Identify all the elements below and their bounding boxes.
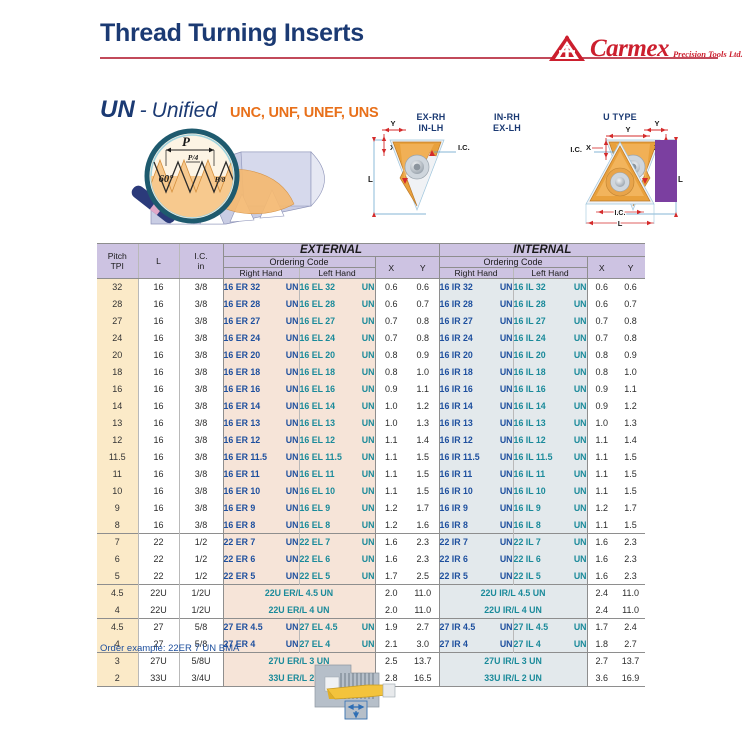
svg-text:Y: Y — [390, 119, 395, 128]
cell-internal-code: 27U IR/L 3 UN — [439, 653, 587, 670]
cell-internal-x: 1.1 — [587, 517, 616, 534]
header-internal-right-hand: Right Hand — [439, 268, 513, 279]
cell-external-x: 0.7 — [375, 330, 407, 347]
header-external-left-hand: Left Hand — [299, 268, 375, 279]
cell-external-y: 2.3 — [407, 534, 439, 551]
svg-text:P/4: P/4 — [188, 153, 199, 162]
table-row: 4.5275/827 ER 4.5UN27 EL 4.5UN1.92.727 I… — [97, 619, 645, 636]
cell-external-right-hand: 16 ER 24UN — [223, 330, 299, 347]
brand-name: Carmex — [590, 36, 669, 62]
cell-external-y: 1.0 — [407, 364, 439, 381]
cell-internal-y: 0.6 — [616, 279, 645, 296]
cell-length: 16 — [138, 279, 179, 296]
cell-internal-x: 1.0 — [587, 415, 616, 432]
cell-external-right-hand: 22 ER 5UN — [223, 568, 299, 585]
cell-external-x: 0.7 — [375, 313, 407, 330]
cell-ic: 3/8 — [179, 432, 223, 449]
table-row: 10163/816 ER 10UN16 EL 10UN1.11.516 IR 1… — [97, 483, 645, 500]
cell-length: 16 — [138, 296, 179, 313]
cell-external-y: 1.5 — [407, 449, 439, 466]
cell-external-right-hand: 16 ER 14UN — [223, 398, 299, 415]
cell-internal-right-hand: 27 IR 4.5UN — [439, 619, 513, 636]
cell-internal-x: 0.6 — [587, 279, 616, 296]
table-row: 20163/816 ER 20UN16 EL 20UN0.80.916 IR 2… — [97, 347, 645, 364]
cell-internal-x: 3.6 — [587, 670, 616, 687]
cell-external-code: 22U ER/L 4.5 UN — [223, 585, 375, 602]
cell-length: 16 — [138, 398, 179, 415]
cell-external-right-hand: 16 ER 28UN — [223, 296, 299, 313]
header-pitch: Pitch TPI — [97, 244, 138, 279]
cell-internal-x: 1.7 — [587, 619, 616, 636]
cell-external-left-hand: 27 EL 4UN — [299, 636, 375, 653]
order-example-note: Order example: 22ER 7 UN BMA — [100, 643, 239, 654]
cell-external-x: 1.7 — [375, 568, 407, 585]
svg-text:L: L — [678, 175, 683, 184]
thread-standard-code: UN — [100, 96, 135, 124]
cell-internal-right-hand: 16 IR 27UN — [439, 313, 513, 330]
cell-length: 22 — [138, 534, 179, 551]
header-internal-y: Y — [616, 257, 645, 279]
cell-external-y: 1.1 — [407, 381, 439, 398]
cell-ic: 3/8 — [179, 364, 223, 381]
cell-ic: 3/8 — [179, 398, 223, 415]
cell-pitch: 2 — [97, 670, 138, 687]
cell-internal-left-hand: 16 IL 27UN — [513, 313, 587, 330]
cell-external-left-hand: 16 EL 28UN — [299, 296, 375, 313]
cell-external-x: 1.6 — [375, 551, 407, 568]
cell-external-left-hand: 27 EL 4.5UN — [299, 619, 375, 636]
cell-length: 16 — [138, 330, 179, 347]
table-row: 12163/816 ER 12UN16 EL 12UN1.11.416 IR 1… — [97, 432, 645, 449]
cell-internal-left-hand: 16 IL 11UN — [513, 466, 587, 483]
cell-external-x: 1.1 — [375, 466, 407, 483]
cell-internal-y: 1.2 — [616, 398, 645, 415]
cell-length: 16 — [138, 483, 179, 500]
specification-table: Pitch TPI L I.C. in EXTERNAL INTERNAL Or… — [97, 243, 645, 687]
cell-internal-x: 1.6 — [587, 568, 616, 585]
cell-ic: 1/2U — [179, 585, 223, 602]
cell-internal-left-hand: 16 IL 11.5UN — [513, 449, 587, 466]
cell-internal-left-hand: 27 IL 4.5UN — [513, 619, 587, 636]
cell-internal-x: 2.4 — [587, 585, 616, 602]
cell-internal-left-hand: 16 IL 32UN — [513, 279, 587, 296]
cell-internal-right-hand: 16 IR 16UN — [439, 381, 513, 398]
cell-internal-y: 1.3 — [616, 415, 645, 432]
specification-table-container: Pitch TPI L I.C. in EXTERNAL INTERNAL Or… — [97, 243, 644, 687]
cell-internal-left-hand: 22 IL 5UN — [513, 568, 587, 585]
cell-internal-y: 1.7 — [616, 500, 645, 517]
cell-ic: 1/2 — [179, 551, 223, 568]
cell-external-x: 2.0 — [375, 602, 407, 619]
cell-external-code: 22U ER/L 4 UN — [223, 602, 375, 619]
cell-external-right-hand: 16 ER 20UN — [223, 347, 299, 364]
cell-internal-right-hand: 16 IR 12UN — [439, 432, 513, 449]
cell-external-right-hand: 22 ER 6UN — [223, 551, 299, 568]
cell-pitch: 20 — [97, 347, 138, 364]
cell-external-x: 1.1 — [375, 432, 407, 449]
label-line-1: IN-RH — [494, 112, 520, 122]
header-internal-x: X — [587, 257, 616, 279]
cell-ic: 1/2 — [179, 534, 223, 551]
cell-external-left-hand: 16 EL 10UN — [299, 483, 375, 500]
cell-external-left-hand: 16 EL 16UN — [299, 381, 375, 398]
cell-length: 22 — [138, 568, 179, 585]
label-line-1: EX-RH — [416, 112, 445, 122]
cell-external-left-hand: 22 EL 7UN — [299, 534, 375, 551]
cell-external-x: 0.6 — [375, 296, 407, 313]
cell-pitch: 12 — [97, 432, 138, 449]
cell-length: 16 — [138, 313, 179, 330]
table-row: 4.522U1/2U22U ER/L 4.5 UN2.011.022U IR/L… — [97, 585, 645, 602]
thread-types-list: UNC, UNF, UNEF, UNS — [230, 105, 378, 121]
label-line-1: U TYPE — [603, 112, 637, 122]
cell-external-left-hand: 22 EL 6UN — [299, 551, 375, 568]
cell-external-left-hand: 16 EL 18UN — [299, 364, 375, 381]
cell-external-x: 1.2 — [375, 500, 407, 517]
cell-internal-right-hand: 16 IR 18UN — [439, 364, 513, 381]
cell-external-y: 1.3 — [407, 415, 439, 432]
cell-internal-y: 1.1 — [616, 381, 645, 398]
cell-ic: 3/8 — [179, 500, 223, 517]
cell-ic: 3/8 — [179, 279, 223, 296]
cell-ic: 3/8 — [179, 296, 223, 313]
cell-internal-left-hand: 16 IL 18UN — [513, 364, 587, 381]
cell-pitch: 24 — [97, 330, 138, 347]
cell-internal-y: 0.9 — [616, 347, 645, 364]
cell-external-right-hand: 27 ER 4.5UN — [223, 619, 299, 636]
cell-internal-left-hand: 22 IL 7UN — [513, 534, 587, 551]
cell-ic: 3/4U — [179, 670, 223, 687]
cell-external-right-hand: 16 ER 9UN — [223, 500, 299, 517]
diagram-label-in-rh: IN-RH EX-LH — [478, 112, 536, 134]
cell-external-y: 11.0 — [407, 602, 439, 619]
cell-external-right-hand: 22 ER 7UN — [223, 534, 299, 551]
cell-length: 22U — [138, 602, 179, 619]
cell-internal-right-hand: 16 IR 11.5UN — [439, 449, 513, 466]
cell-pitch: 8 — [97, 517, 138, 534]
cell-external-x: 1.0 — [375, 415, 407, 432]
cell-internal-y: 1.5 — [616, 466, 645, 483]
cell-external-right-hand: 16 ER 18UN — [223, 364, 299, 381]
cell-external-x: 1.1 — [375, 449, 407, 466]
cell-internal-x: 0.9 — [587, 398, 616, 415]
cell-internal-x: 0.9 — [587, 381, 616, 398]
cell-ic: 3/8 — [179, 483, 223, 500]
cell-internal-right-hand: 16 IR 9UN — [439, 500, 513, 517]
cell-pitch: 4.5 — [97, 619, 138, 636]
header-external-group: EXTERNAL — [223, 244, 439, 257]
cell-external-left-hand: 16 EL 14UN — [299, 398, 375, 415]
table-row: 16163/816 ER 16UN16 EL 16UN0.91.116 IR 1… — [97, 381, 645, 398]
cell-length: 16 — [138, 381, 179, 398]
table-body: 32163/816 ER 32UN16 EL 32UN0.60.616 IR 3… — [97, 279, 645, 687]
table-head: Pitch TPI L I.C. in EXTERNAL INTERNAL Or… — [97, 244, 645, 279]
cell-external-right-hand: 16 ER 11UN — [223, 466, 299, 483]
cell-external-x: 1.0 — [375, 398, 407, 415]
cell-external-x: 2.0 — [375, 585, 407, 602]
cell-length: 22U — [138, 585, 179, 602]
cell-internal-x: 0.6 — [587, 296, 616, 313]
cell-internal-right-hand: 27 IR 4UN — [439, 636, 513, 653]
cell-internal-right-hand: 16 IR 11UN — [439, 466, 513, 483]
header-length: L — [138, 244, 179, 279]
cell-internal-left-hand: 16 IL 9UN — [513, 500, 587, 517]
diagram-label-u-type: U TYPE — [570, 112, 670, 123]
cell-external-right-hand: 16 ER 12UN — [223, 432, 299, 449]
cell-pitch: 11 — [97, 466, 138, 483]
cell-external-left-hand: 16 EL 12UN — [299, 432, 375, 449]
table-row: 24163/816 ER 24UN16 EL 24UN0.70.816 IR 2… — [97, 330, 645, 347]
cell-ic: 1/2U — [179, 602, 223, 619]
cell-external-y: 1.5 — [407, 466, 439, 483]
cell-internal-x: 1.1 — [587, 466, 616, 483]
cell-pitch: 9 — [97, 500, 138, 517]
label-line-2: IN-LH — [419, 123, 444, 133]
cell-external-x: 1.1 — [375, 483, 407, 500]
page-header: Thread Turning Inserts Carmex Precision … — [100, 18, 718, 62]
cell-internal-x: 0.8 — [587, 347, 616, 364]
cell-external-y: 0.8 — [407, 313, 439, 330]
cell-internal-y: 0.8 — [616, 330, 645, 347]
table-row: 18163/816 ER 18UN16 EL 18UN0.81.016 IR 1… — [97, 364, 645, 381]
cell-ic: 3/8 — [179, 381, 223, 398]
cell-pitch: 16 — [97, 381, 138, 398]
cell-internal-y: 2.3 — [616, 534, 645, 551]
cell-external-left-hand: 22 EL 5UN — [299, 568, 375, 585]
cell-length: 33U — [138, 670, 179, 687]
cell-ic: 3/8 — [179, 347, 223, 364]
svg-text:60°: 60° — [159, 174, 175, 185]
cell-external-y: 1.6 — [407, 517, 439, 534]
cell-external-right-hand: 16 ER 13UN — [223, 415, 299, 432]
svg-text:I.C.: I.C. — [458, 143, 470, 152]
thread-profile-illustration: P P/4 P/8 60° — [96, 126, 346, 234]
cell-internal-code: 22U IR/L 4 UN — [439, 602, 587, 619]
cell-pitch: 4 — [97, 602, 138, 619]
cell-external-x: 0.9 — [375, 381, 407, 398]
cell-external-y: 0.9 — [407, 347, 439, 364]
cell-pitch: 18 — [97, 364, 138, 381]
cell-internal-y: 1.5 — [616, 517, 645, 534]
cell-internal-y: 1.5 — [616, 483, 645, 500]
cell-pitch: 11.5 — [97, 449, 138, 466]
cell-internal-y: 2.3 — [616, 551, 645, 568]
cell-external-x: 0.6 — [375, 279, 407, 296]
cell-internal-x: 1.8 — [587, 636, 616, 653]
cell-internal-right-hand: 16 IR 14UN — [439, 398, 513, 415]
header-external-x: X — [375, 257, 407, 279]
table-row: 9163/816 ER 9UN16 EL 9UN1.21.716 IR 9UN1… — [97, 500, 645, 517]
cell-external-right-hand: 16 ER 32UN — [223, 279, 299, 296]
cell-length: 16 — [138, 364, 179, 381]
cell-internal-left-hand: 22 IL 6UN — [513, 551, 587, 568]
cell-pitch: 32 — [97, 279, 138, 296]
cell-internal-left-hand: 16 IL 28UN — [513, 296, 587, 313]
svg-text:Y: Y — [625, 125, 630, 134]
cell-external-y: 1.7 — [407, 500, 439, 517]
cell-external-y: 3.0 — [407, 636, 439, 653]
cell-pitch: 4.5 — [97, 585, 138, 602]
header-external-ordering-code: Ordering Code — [223, 257, 375, 268]
cell-internal-x: 2.7 — [587, 653, 616, 670]
cell-internal-y: 11.0 — [616, 585, 645, 602]
cell-pitch: 3 — [97, 653, 138, 670]
table-row: 7221/222 ER 7UN22 EL 7UN1.62.322 IR 7UN2… — [97, 534, 645, 551]
cell-internal-x: 1.6 — [587, 551, 616, 568]
cell-internal-right-hand: 16 IR 32UN — [439, 279, 513, 296]
cell-external-y: 0.8 — [407, 330, 439, 347]
cell-external-x: 1.2 — [375, 517, 407, 534]
cell-length: 16 — [138, 432, 179, 449]
cell-external-y: 2.3 — [407, 551, 439, 568]
cell-external-x: 0.8 — [375, 364, 407, 381]
cell-ic: 3/8 — [179, 330, 223, 347]
cell-internal-y: 2.4 — [616, 619, 645, 636]
cell-external-left-hand: 16 EL 32UN — [299, 279, 375, 296]
cell-internal-y: 1.0 — [616, 364, 645, 381]
cell-ic: 3/8 — [179, 415, 223, 432]
cell-internal-y: 0.8 — [616, 313, 645, 330]
cell-length: 22 — [138, 551, 179, 568]
cell-internal-x: 0.8 — [587, 364, 616, 381]
cell-internal-x: 1.2 — [587, 500, 616, 517]
svg-text:L: L — [618, 219, 623, 228]
cell-internal-x: 1.1 — [587, 449, 616, 466]
cell-length: 16 — [138, 517, 179, 534]
cell-internal-y: 16.9 — [616, 670, 645, 687]
cell-external-left-hand: 16 EL 11UN — [299, 466, 375, 483]
cell-ic: 1/2 — [179, 568, 223, 585]
cell-ic: 3/8 — [179, 449, 223, 466]
cell-ic: 5/8U — [179, 653, 223, 670]
cell-pitch: 13 — [97, 415, 138, 432]
cell-internal-x: 1.1 — [587, 483, 616, 500]
cell-length: 16 — [138, 466, 179, 483]
cell-internal-x: 2.4 — [587, 602, 616, 619]
cell-length: 16 — [138, 347, 179, 364]
cell-external-left-hand: 16 EL 8UN — [299, 517, 375, 534]
cell-internal-y: 2.3 — [616, 568, 645, 585]
table-row: 13163/816 ER 13UN16 EL 13UN1.01.316 IR 1… — [97, 415, 645, 432]
cell-internal-left-hand: 16 IL 13UN — [513, 415, 587, 432]
header-internal-ordering-code: Ordering Code — [439, 257, 587, 268]
header-internal-left-hand: Left Hand — [513, 268, 587, 279]
cell-internal-y: 0.7 — [616, 296, 645, 313]
cell-ic: 5/8 — [179, 619, 223, 636]
cell-pitch: 7 — [97, 534, 138, 551]
cell-external-right-hand: 16 ER 27UN — [223, 313, 299, 330]
cell-internal-left-hand: 16 IL 8UN — [513, 517, 587, 534]
cell-length: 27 — [138, 619, 179, 636]
diagram-label-ex-rh: EX-RH IN-LH — [402, 112, 460, 134]
svg-text:X: X — [586, 143, 591, 152]
cell-pitch: 28 — [97, 296, 138, 313]
cell-internal-left-hand: 16 IL 24UN — [513, 330, 587, 347]
cell-external-y: 0.6 — [407, 279, 439, 296]
cell-external-y: 2.5 — [407, 568, 439, 585]
table-row: 5221/222 ER 5UN22 EL 5UN1.72.522 IR 5UN2… — [97, 568, 645, 585]
cell-external-left-hand: 16 EL 13UN — [299, 415, 375, 432]
table-row: 11.5163/816 ER 11.5UN16 EL 11.5UN1.11.51… — [97, 449, 645, 466]
cell-external-left-hand: 16 EL 27UN — [299, 313, 375, 330]
svg-text:P/8: P/8 — [215, 175, 226, 184]
cell-external-left-hand: 16 EL 24UN — [299, 330, 375, 347]
cell-internal-left-hand: 27 IL 4UN — [513, 636, 587, 653]
cell-external-y: 11.0 — [407, 585, 439, 602]
table-row: 32163/816 ER 32UN16 EL 32UN0.60.616 IR 3… — [97, 279, 645, 296]
header-internal-group: INTERNAL — [439, 244, 645, 257]
header-ic: I.C. in — [179, 244, 223, 279]
cell-internal-left-hand: 16 IL 16UN — [513, 381, 587, 398]
cell-pitch: 6 — [97, 551, 138, 568]
cell-external-right-hand: 16 ER 16UN — [223, 381, 299, 398]
cell-internal-y: 2.7 — [616, 636, 645, 653]
cell-internal-right-hand: 16 IR 8UN — [439, 517, 513, 534]
cell-internal-right-hand: 22 IR 7UN — [439, 534, 513, 551]
carmex-logo-icon — [548, 34, 586, 62]
table-row: 6221/222 ER 6UN22 EL 6UN1.62.322 IR 6UN2… — [97, 551, 645, 568]
cell-internal-y: 11.0 — [616, 602, 645, 619]
cell-internal-x: 0.7 — [587, 330, 616, 347]
cell-external-x: 0.8 — [375, 347, 407, 364]
cell-external-y: 0.7 — [407, 296, 439, 313]
cell-internal-code: 33U IR/L 2 UN — [439, 670, 587, 687]
cell-internal-right-hand: 16 IR 28UN — [439, 296, 513, 313]
table-row: 422U1/2U22U ER/L 4 UN2.011.022U IR/L 4 U… — [97, 602, 645, 619]
cell-internal-left-hand: 16 IL 14UN — [513, 398, 587, 415]
cell-internal-x: 1.6 — [587, 534, 616, 551]
cell-length: 16 — [138, 449, 179, 466]
cell-internal-left-hand: 16 IL 12UN — [513, 432, 587, 449]
svg-text:L: L — [368, 175, 373, 184]
cell-internal-left-hand: 16 IL 20UN — [513, 347, 587, 364]
cell-internal-right-hand: 16 IR 10UN — [439, 483, 513, 500]
cell-external-right-hand: 16 ER 10UN — [223, 483, 299, 500]
cell-external-x: 2.1 — [375, 636, 407, 653]
svg-text:P: P — [182, 134, 191, 149]
cell-internal-right-hand: 16 IR 20UN — [439, 347, 513, 364]
svg-text:I.C.: I.C. — [615, 210, 626, 217]
cell-internal-x: 1.1 — [587, 432, 616, 449]
cell-internal-y: 13.7 — [616, 653, 645, 670]
thread-standard-name: Unified — [152, 99, 217, 123]
cell-external-right-hand: 16 ER 8UN — [223, 517, 299, 534]
cell-external-x: 1.9 — [375, 619, 407, 636]
cell-internal-y: 1.5 — [616, 449, 645, 466]
cell-length: 27U — [138, 653, 179, 670]
cell-pitch: 14 — [97, 398, 138, 415]
cell-internal-right-hand: 16 IR 13UN — [439, 415, 513, 432]
cell-pitch: 5 — [97, 568, 138, 585]
cell-external-left-hand: 16 EL 11.5UN — [299, 449, 375, 466]
threading-operation-illustration — [305, 655, 425, 735]
cell-internal-y: 1.4 — [616, 432, 645, 449]
label-line-2: EX-LH — [493, 123, 521, 133]
cell-external-y: 1.4 — [407, 432, 439, 449]
subtitle-dash: - — [140, 99, 147, 123]
cell-internal-right-hand: 22 IR 6UN — [439, 551, 513, 568]
section-index-tab — [655, 140, 677, 202]
cell-ic: 3/8 — [179, 313, 223, 330]
cell-ic: 3/8 — [179, 517, 223, 534]
cell-external-left-hand: 16 EL 20UN — [299, 347, 375, 364]
cell-external-right-hand: 16 ER 11.5UN — [223, 449, 299, 466]
cell-length: 16 — [138, 415, 179, 432]
section-subtitle: UN - Unified UNC, UNF, UNEF, UNS — [100, 96, 379, 124]
cell-external-left-hand: 16 EL 9UN — [299, 500, 375, 517]
brand-logo: Carmex Precision Tools Ltd. — [548, 34, 743, 62]
brand-tagline: Precision Tools Ltd. — [673, 49, 743, 62]
